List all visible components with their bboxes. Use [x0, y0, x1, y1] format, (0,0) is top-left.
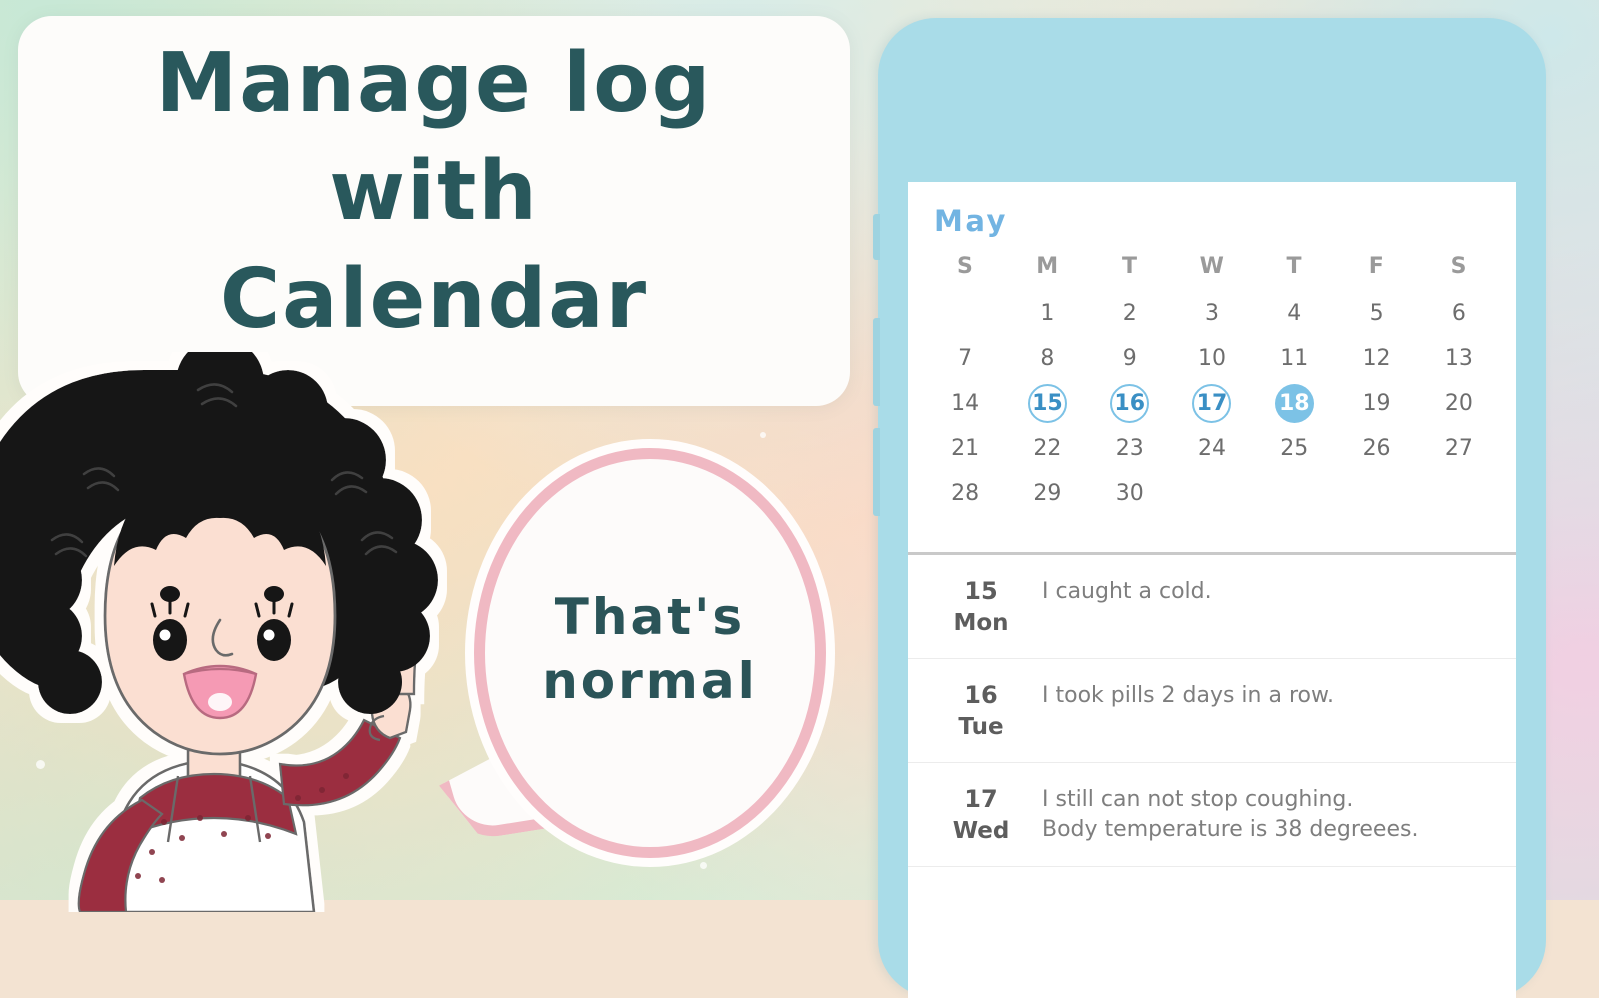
calendar-day-12[interactable]: 12 — [1357, 339, 1396, 378]
calendar-weekday-6: S — [1418, 248, 1500, 291]
calendar-day-cell[interactable]: 18 — [1253, 381, 1335, 426]
calendar-day-cell[interactable]: 30 — [1089, 471, 1171, 516]
calendar-day-19[interactable]: 19 — [1357, 384, 1396, 423]
calendar-day-cell[interactable]: 26 — [1335, 426, 1417, 471]
calendar-day-23[interactable]: 23 — [1110, 429, 1149, 468]
sparkle-dot — [760, 432, 766, 438]
calendar-day-cell[interactable]: 13 — [1418, 336, 1500, 381]
calendar-day-cell[interactable]: 28 — [924, 471, 1006, 516]
calendar-day-20[interactable]: 20 — [1439, 384, 1478, 423]
log-entry-text: I still can not stop coughing. Body temp… — [1024, 783, 1498, 846]
speech-bubble-text: That's normal — [542, 585, 758, 713]
calendar-weekday-4: T — [1253, 248, 1335, 291]
calendar-day-cell[interactable]: 1 — [1006, 291, 1088, 336]
log-entry-list[interactable]: 15MonI caught a cold.16TueI took pills 2… — [908, 555, 1516, 867]
log-entry-date: 16Tue — [938, 679, 1024, 744]
calendar-day-3[interactable]: 3 — [1192, 294, 1231, 333]
page-title: Manage log with Calendar — [156, 30, 713, 355]
log-entry-weekday: Tue — [938, 712, 1024, 744]
calendar-day-cell[interactable]: 14 — [924, 381, 1006, 426]
calendar-weekday-row: SMTWTFS — [924, 248, 1500, 291]
phone-mockup: May SMTWTFS 1234567891011121314151617181… — [878, 18, 1546, 998]
calendar-day-cell[interactable]: 29 — [1006, 471, 1088, 516]
phone-side-button-mute[interactable] — [873, 214, 880, 260]
calendar-day-25[interactable]: 25 — [1275, 429, 1314, 468]
calendar-day-cell[interactable]: 11 — [1253, 336, 1335, 381]
sparkle-dot — [700, 862, 707, 869]
calendar-day-cell[interactable]: 22 — [1006, 426, 1088, 471]
calendar-day-30[interactable]: 30 — [1110, 474, 1149, 513]
calendar-day-cell[interactable]: 16 — [1089, 381, 1171, 426]
calendar-day-cell[interactable]: 25 — [1253, 426, 1335, 471]
log-entry-date: 15Mon — [938, 575, 1024, 640]
calendar-day-cell[interactable]: 20 — [1418, 381, 1500, 426]
calendar-day-cell[interactable]: 8 — [1006, 336, 1088, 381]
log-entry-day-number: 17 — [938, 783, 1024, 816]
calendar-day-15[interactable]: 15 — [1028, 384, 1067, 423]
log-entry-date: 17Wed — [938, 783, 1024, 848]
calendar-day-cell[interactable]: 19 — [1335, 381, 1417, 426]
character-illustration — [0, 352, 462, 912]
calendar-weekday-0: S — [924, 248, 1006, 291]
log-entry-row[interactable]: 17WedI still can not stop coughing. Body… — [908, 763, 1516, 867]
calendar-day-cell[interactable]: 24 — [1171, 426, 1253, 471]
calendar-day-cell[interactable]: 15 — [1006, 381, 1088, 426]
calendar-day-14[interactable]: 14 — [946, 384, 985, 423]
log-entry-text: I caught a cold. — [1024, 575, 1498, 607]
calendar-day-cell[interactable]: 17 — [1171, 381, 1253, 426]
calendar-day-17[interactable]: 17 — [1192, 384, 1231, 423]
log-entry-weekday: Wed — [938, 816, 1024, 848]
calendar-day-24[interactable]: 24 — [1192, 429, 1231, 468]
calendar-day-cell[interactable]: 9 — [1089, 336, 1171, 381]
calendar-day-cell[interactable]: 7 — [924, 336, 1006, 381]
phone-screen: May SMTWTFS 1234567891011121314151617181… — [908, 182, 1516, 998]
calendar-day-cell[interactable]: 2 — [1089, 291, 1171, 336]
log-entry-weekday: Mon — [938, 608, 1024, 640]
phone-side-button-volume-down[interactable] — [873, 428, 880, 516]
calendar-day-4[interactable]: 4 — [1275, 294, 1314, 333]
calendar-day-cell[interactable]: 21 — [924, 426, 1006, 471]
calendar-day-5[interactable]: 5 — [1357, 294, 1396, 333]
calendar-widget[interactable]: May SMTWTFS 1234567891011121314151617181… — [908, 182, 1516, 520]
calendar-day-2[interactable]: 2 — [1110, 294, 1149, 333]
phone-side-button-volume-up[interactable] — [873, 318, 880, 406]
calendar-weekday-1: M — [1006, 248, 1088, 291]
calendar-weekday-3: W — [1171, 248, 1253, 291]
log-entry-text: I took pills 2 days in a row. — [1024, 679, 1498, 711]
calendar-day-9[interactable]: 9 — [1110, 339, 1149, 378]
calendar-day-22[interactable]: 22 — [1028, 429, 1067, 468]
calendar-month-label: May — [934, 204, 1500, 238]
calendar-day-26[interactable]: 26 — [1357, 429, 1396, 468]
calendar-day-cell[interactable]: 4 — [1253, 291, 1335, 336]
headline-card: Manage log with Calendar — [18, 16, 850, 406]
log-entry-day-number: 16 — [938, 679, 1024, 712]
calendar-day-7[interactable]: 7 — [946, 339, 985, 378]
calendar-day-cell[interactable]: 6 — [1418, 291, 1500, 336]
calendar-day-29[interactable]: 29 — [1028, 474, 1067, 513]
calendar-day-21[interactable]: 21 — [946, 429, 985, 468]
calendar-day-16[interactable]: 16 — [1110, 384, 1149, 423]
calendar-day-28[interactable]: 28 — [946, 474, 985, 513]
calendar-day-cell[interactable]: 10 — [1171, 336, 1253, 381]
calendar-day-8[interactable]: 8 — [1028, 339, 1067, 378]
log-entry-row[interactable]: 15MonI caught a cold. — [908, 555, 1516, 659]
calendar-day-cell[interactable]: 27 — [1418, 426, 1500, 471]
calendar-day-cell[interactable]: 12 — [1335, 336, 1417, 381]
calendar-weekday-5: F — [1335, 248, 1417, 291]
calendar-day-18[interactable]: 18 — [1275, 384, 1314, 423]
calendar-day-cell[interactable]: 3 — [1171, 291, 1253, 336]
calendar-day-cell[interactable]: 5 — [1335, 291, 1417, 336]
log-entry-day-number: 15 — [938, 575, 1024, 608]
calendar-day-13[interactable]: 13 — [1439, 339, 1478, 378]
calendar-day-1[interactable]: 1 — [1028, 294, 1067, 333]
speech-bubble: That's normal — [474, 448, 826, 858]
calendar-day-cell[interactable]: 23 — [1089, 426, 1171, 471]
calendar-day-grid[interactable]: 1234567891011121314151617181920212223242… — [924, 291, 1500, 516]
calendar-weekday-2: T — [1089, 248, 1171, 291]
calendar-day-11[interactable]: 11 — [1275, 339, 1314, 378]
calendar-day-10[interactable]: 10 — [1192, 339, 1231, 378]
calendar-blank-cell — [924, 291, 1006, 336]
log-entry-row[interactable]: 16TueI took pills 2 days in a row. — [908, 659, 1516, 763]
calendar-day-27[interactable]: 27 — [1439, 429, 1478, 468]
calendar-day-6[interactable]: 6 — [1439, 294, 1478, 333]
speech-bubble-body: That's normal — [474, 448, 826, 858]
